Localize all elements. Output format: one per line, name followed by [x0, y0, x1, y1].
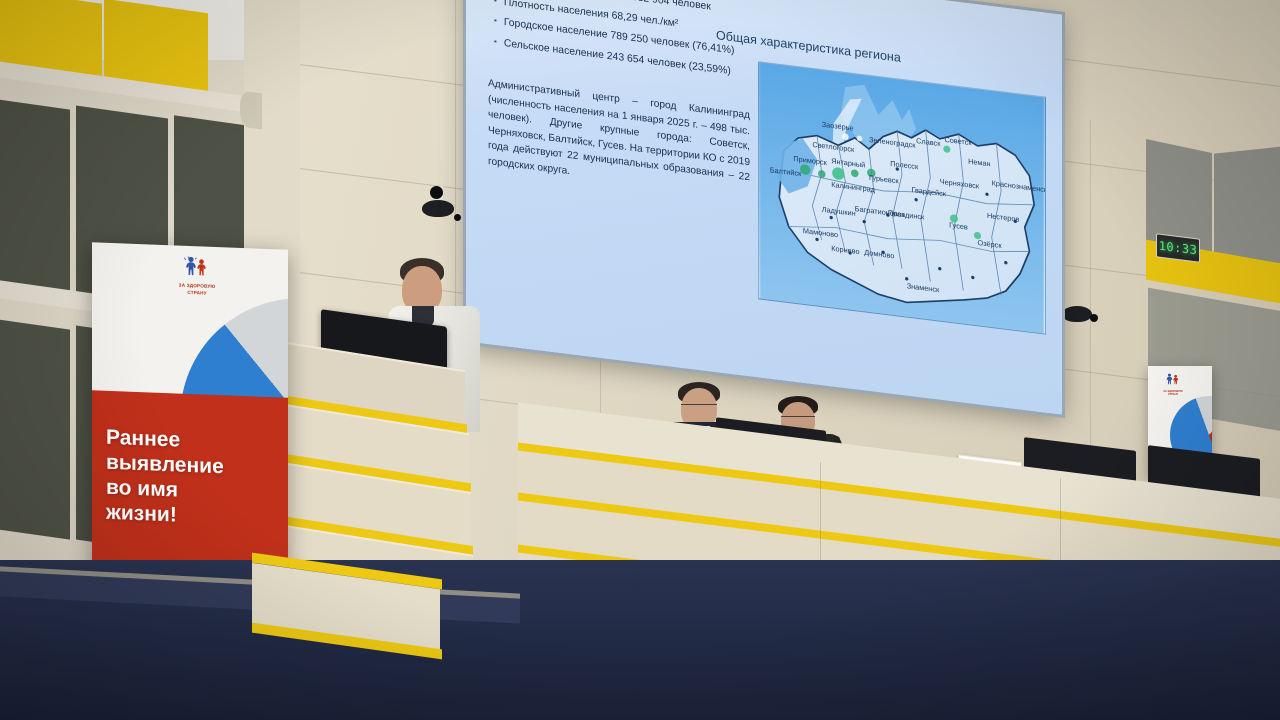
- wall-camera-right: [1060, 300, 1104, 336]
- wall-panel-olive-4: [0, 318, 70, 539]
- banner-right-logo-line2: СТРАНУ: [1158, 393, 1188, 396]
- healthy-country-logo-icon-small: [1163, 373, 1183, 385]
- camera-dome: [422, 200, 454, 217]
- slide-map-kaliningrad: Заозёрье Светлогорск Зеленоградск Примор…: [758, 61, 1046, 334]
- banner-logo-line1: ЗА ЗДОРОВУЮ: [166, 282, 228, 290]
- banner-right-logo: ЗА ЗДОРОВУЮ СТРАНУ: [1158, 372, 1188, 396]
- banner-logo: ЗА ЗДОРОВУЮ СТРАНУ: [166, 255, 228, 297]
- camera-lens-right: [1090, 314, 1098, 322]
- camera-dome-right: [1062, 306, 1092, 322]
- banner-headline: Раннее выявление во имя жизни!: [106, 425, 276, 532]
- wall-panel-olive-1: [0, 98, 70, 305]
- wall-camera-left: [418, 186, 466, 228]
- clock-time: 10:33: [1159, 239, 1198, 258]
- map-svg: Заозёрье Светлогорск Зеленоградск Примор…: [759, 62, 1045, 333]
- banner-logo-line2: СТРАНУ: [166, 289, 228, 297]
- camera-ball: [454, 214, 461, 221]
- rollup-banner-left: ЗА ЗДОРОВУЮ СТРАНУ Раннее выявление во и…: [92, 242, 288, 596]
- camera-lens-top: [430, 186, 443, 199]
- wall-left-pillar-edge: [240, 91, 262, 130]
- person1-glasses: [681, 404, 717, 411]
- healthy-country-logo-icon: [180, 256, 214, 277]
- projection-screen: ЛОГИЧЕСКИЙ ЦЕНТР линнградской области Об…: [466, 0, 1062, 415]
- conference-hall-photo: 10:33 ЛОГИЧЕСКИЙ ЦЕНТР линнградской обла…: [0, 0, 1280, 720]
